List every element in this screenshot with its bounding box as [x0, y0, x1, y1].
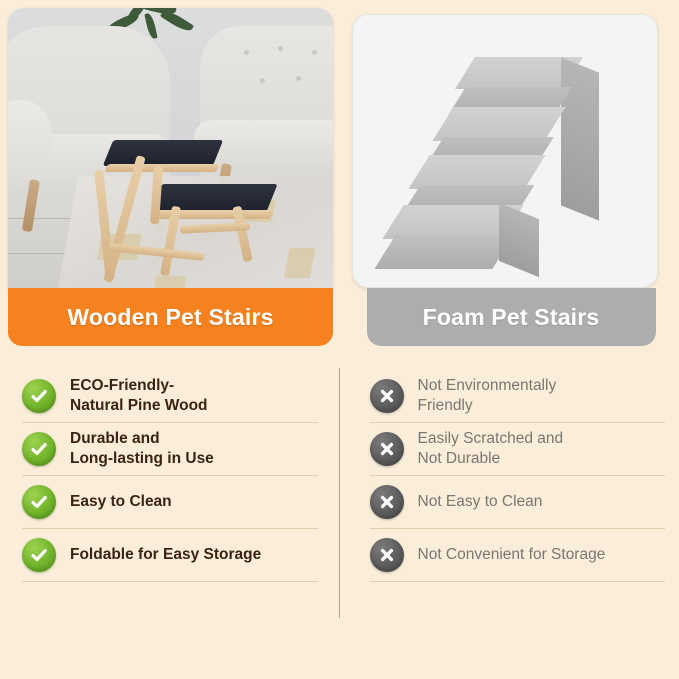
check-icon — [22, 379, 56, 413]
feature-text: Not Easy to Clean — [418, 492, 543, 512]
check-icon — [22, 485, 56, 519]
foam-pet-stairs-photo — [352, 14, 658, 288]
list-item: Not Environmentally Friendly — [370, 370, 666, 422]
cross-icon — [370, 485, 404, 519]
list-separator — [22, 581, 318, 582]
cons-list: Not Environmentally Friendly Easily Scra… — [340, 352, 679, 679]
feature-text: Foldable for Easy Storage — [70, 545, 261, 565]
list-item: Not Easy to Clean — [370, 476, 666, 528]
cross-icon — [370, 538, 404, 572]
list-item: Easily Scratched and Not Durable — [370, 423, 666, 475]
feature-text: Durable and Long-lasting in Use — [70, 429, 214, 469]
feature-text: Easy to Clean — [70, 492, 172, 512]
check-icon — [22, 538, 56, 572]
comparison-infographic: Wooden Pet Stairs — [0, 0, 679, 679]
product-card-wooden: Wooden Pet Stairs — [0, 0, 340, 352]
list-item: Foldable for Easy Storage — [22, 529, 320, 581]
list-item: Durable and Long-lasting in Use — [22, 423, 320, 475]
wooden-stairs-label-text: Wooden Pet Stairs — [67, 304, 273, 331]
list-item: ECO-Friendly- Natural Pine Wood — [22, 370, 320, 422]
pros-list: ECO-Friendly- Natural Pine Wood Durable … — [0, 352, 340, 679]
feature-comparison-lists: ECO-Friendly- Natural Pine Wood Durable … — [0, 352, 679, 679]
foam-stairs-label: Foam Pet Stairs — [367, 288, 656, 346]
list-separator — [370, 581, 665, 582]
foam-stairs-product — [353, 15, 657, 287]
check-icon — [22, 432, 56, 466]
foam-stairs-label-text: Foam Pet Stairs — [423, 304, 600, 331]
wooden-stairs-product — [92, 136, 282, 296]
list-item: Easy to Clean — [22, 476, 320, 528]
feature-text: Easily Scratched and Not Durable — [418, 429, 564, 469]
product-cards: Wooden Pet Stairs — [0, 0, 679, 352]
product-card-foam: Foam Pet Stairs — [340, 0, 679, 352]
cross-icon — [370, 379, 404, 413]
list-item: Not Convenient for Storage — [370, 529, 666, 581]
feature-text: Not Environmentally Friendly — [418, 376, 557, 416]
wooden-pet-stairs-photo — [8, 8, 333, 300]
feature-text: ECO-Friendly- Natural Pine Wood — [70, 376, 208, 416]
cross-icon — [370, 432, 404, 466]
wooden-stairs-label: Wooden Pet Stairs — [8, 288, 333, 346]
feature-text: Not Convenient for Storage — [418, 545, 606, 565]
